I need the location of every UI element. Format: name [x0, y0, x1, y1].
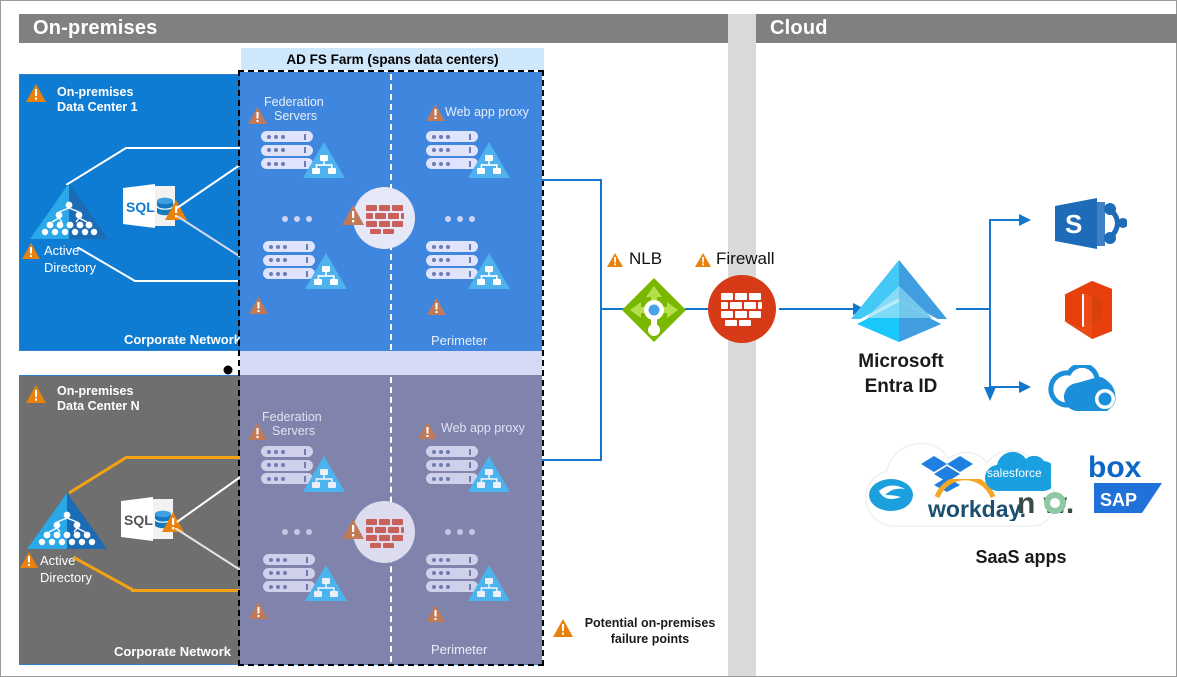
- warning-icon-webproxy-rack-dcn: [425, 604, 446, 623]
- warning-icon-federation-rack-dcn: [248, 601, 269, 620]
- entra-label-line1: Microsoft: [821, 349, 981, 374]
- warning-icon-active-directory-dcn: [19, 551, 39, 569]
- network-badge-webproxy-dcn-bottom: [466, 563, 512, 608]
- active-directory-icon-dcn: [25, 491, 109, 553]
- onedrive-icon[interactable]: [1043, 365, 1125, 424]
- adfs-farm-tab: AD FS Farm (spans data centers): [241, 48, 544, 70]
- web-app-proxy-label-dcn: Web app proxy: [441, 421, 525, 435]
- sharepoint-icon[interactable]: S: [1053, 196, 1127, 259]
- network-badge-webproxy-dc1-bottom: [466, 251, 512, 296]
- warning-icon-web-app-proxy-dc1: [425, 103, 446, 122]
- legend-label: Potential on-premises failure points: [579, 615, 721, 647]
- warning-icon-webproxy-rack-dc1: [426, 297, 447, 316]
- svg-text:SQL: SQL: [124, 512, 153, 528]
- connector-nlb-to-firewall: [685, 308, 709, 310]
- warning-icon-datacenter-1: [25, 83, 47, 103]
- warning-icon-internal-firewall-dc1: [341, 204, 365, 226]
- sap-logo: SAP: [1094, 483, 1162, 520]
- network-badge-webproxy-dcn-top: [466, 454, 512, 499]
- saas-apps-label: SaaS apps: [921, 547, 1121, 568]
- connector-bracket-farm-to-nlb: [542, 179, 602, 461]
- federation-servers-ellipsis-dc1: [282, 209, 318, 227]
- datacenter-n-title-line2: Data Center N: [57, 399, 237, 414]
- internal-firewall-icon-dcn: [365, 518, 405, 553]
- sap-logo-text: SAP: [1100, 490, 1137, 510]
- legend-label-line1: Potential on-premises: [579, 615, 721, 631]
- network-badge-federation-dc1-bottom: [303, 251, 349, 296]
- federation-servers-label-dcn: Federation Servers: [262, 410, 322, 438]
- perimeter-label-dc1: Perimeter: [431, 333, 487, 348]
- nlb-label: NLB: [629, 249, 662, 269]
- connector-ad-to-federation-dc1-a-diag: [66, 147, 128, 185]
- federation-servers-label-dc1: Federation Servers: [264, 95, 324, 123]
- active-directory-icon-dc1: [28, 181, 110, 243]
- connector-entra-out: [956, 308, 991, 310]
- warning-icon-nlb: [606, 252, 624, 268]
- box-logo: box: [1088, 450, 1150, 487]
- microsoft-entra-id-icon[interactable]: [847, 256, 951, 353]
- federation-servers-label-dcn-line1: Federation: [262, 410, 322, 424]
- section-header-on-premises: On-premises: [19, 14, 742, 43]
- network-badge-webproxy-dc1-top: [466, 140, 512, 185]
- svg-text:S: S: [1065, 209, 1082, 239]
- svg-text:SQL: SQL: [126, 199, 155, 215]
- firewall-icon[interactable]: [707, 274, 777, 349]
- connector-ad-to-federation-dc1-a: [125, 147, 255, 149]
- servicenow-logo: n w.: [1015, 483, 1103, 524]
- diagram-canvas: On-premises Cloud On-premises Data Cente…: [0, 0, 1177, 677]
- firewall-label: Firewall: [716, 249, 775, 269]
- salesforce-logo-text: salesforce: [987, 466, 1042, 480]
- warning-icon-active-directory-dc1: [21, 242, 41, 260]
- webproxy-ellipsis-dcn: [445, 522, 481, 540]
- datacenter-1-title-line1: On-premises: [57, 85, 237, 100]
- entra-label-line2: Entra ID: [821, 374, 981, 399]
- web-app-proxy-label-dc1: Web app proxy: [445, 105, 529, 119]
- connector-ad-to-federation-dcn-d-diag: [73, 556, 135, 592]
- datacenter-1-title-line2: Data Center 1: [57, 100, 237, 115]
- network-badge-federation-dc1-top: [301, 140, 347, 185]
- datacenter-n-title: On-premises Data Center N: [57, 384, 237, 414]
- warning-icon-federation-rack-dc1: [248, 296, 269, 315]
- warning-icon-web-app-proxy-dcn: [417, 421, 438, 440]
- datacenter-n-title-line1: On-premises: [57, 384, 237, 399]
- datacenter-1-title: On-premises Data Center 1: [57, 85, 237, 115]
- network-badge-federation-dcn-bottom: [303, 563, 349, 608]
- concur-logo: [867, 473, 915, 518]
- connector-ad-to-federation-dcn-a-diag: [69, 456, 129, 494]
- arrowhead-saas-down: [983, 387, 997, 408]
- connector-ad-to-federation-dcn-a: [126, 456, 256, 459]
- warning-icon-firewall: [694, 252, 712, 268]
- connector-firewall-to-entra: [779, 308, 857, 310]
- section-header-cloud: Cloud: [756, 14, 1177, 43]
- internal-firewall-icon-dc1: [365, 204, 405, 239]
- webproxy-ellipsis-dc1: [445, 209, 481, 227]
- legend-label-line2: failure points: [579, 631, 721, 647]
- federation-servers-ellipsis-dcn: [282, 522, 318, 540]
- arrowhead-onedrive: [1019, 380, 1033, 399]
- box-logo-text: box: [1088, 451, 1142, 482]
- federation-servers-label-dc1-line2: Servers: [264, 109, 324, 123]
- nlb-icon[interactable]: [621, 277, 687, 348]
- office-365-icon[interactable]: [1056, 279, 1118, 346]
- warning-icon-datacenter-n: [25, 384, 47, 404]
- warning-icon-internal-firewall-dcn: [341, 518, 365, 540]
- corporate-network-label-dcn: Corporate Network: [91, 644, 231, 659]
- section-header-cloud-label: Cloud: [770, 17, 828, 40]
- connector-to-sharepoint: [989, 219, 1021, 221]
- adfs-farm-tab-label: AD FS Farm (spans data centers): [286, 52, 498, 67]
- connector-apps-vertical: [989, 219, 991, 389]
- section-header-on-premises-label: On-premises: [33, 17, 157, 40]
- warning-icon-legend: [552, 618, 574, 638]
- perimeter-label-dcn: Perimeter: [431, 642, 487, 657]
- microsoft-entra-id-label: Microsoft Entra ID: [821, 349, 981, 399]
- federation-servers-label-dc1-line1: Federation: [264, 95, 324, 109]
- corporate-network-label-dc1: Corporate Network: [101, 332, 241, 347]
- arrowhead-sharepoint: [1019, 213, 1033, 232]
- network-badge-federation-dcn-top: [301, 454, 347, 499]
- federation-servers-label-dcn-line2: Servers: [262, 424, 322, 438]
- connector-ad-to-federation-dc1-d-diag: [77, 247, 137, 283]
- adfs-farm-band-middle: [240, 351, 542, 375]
